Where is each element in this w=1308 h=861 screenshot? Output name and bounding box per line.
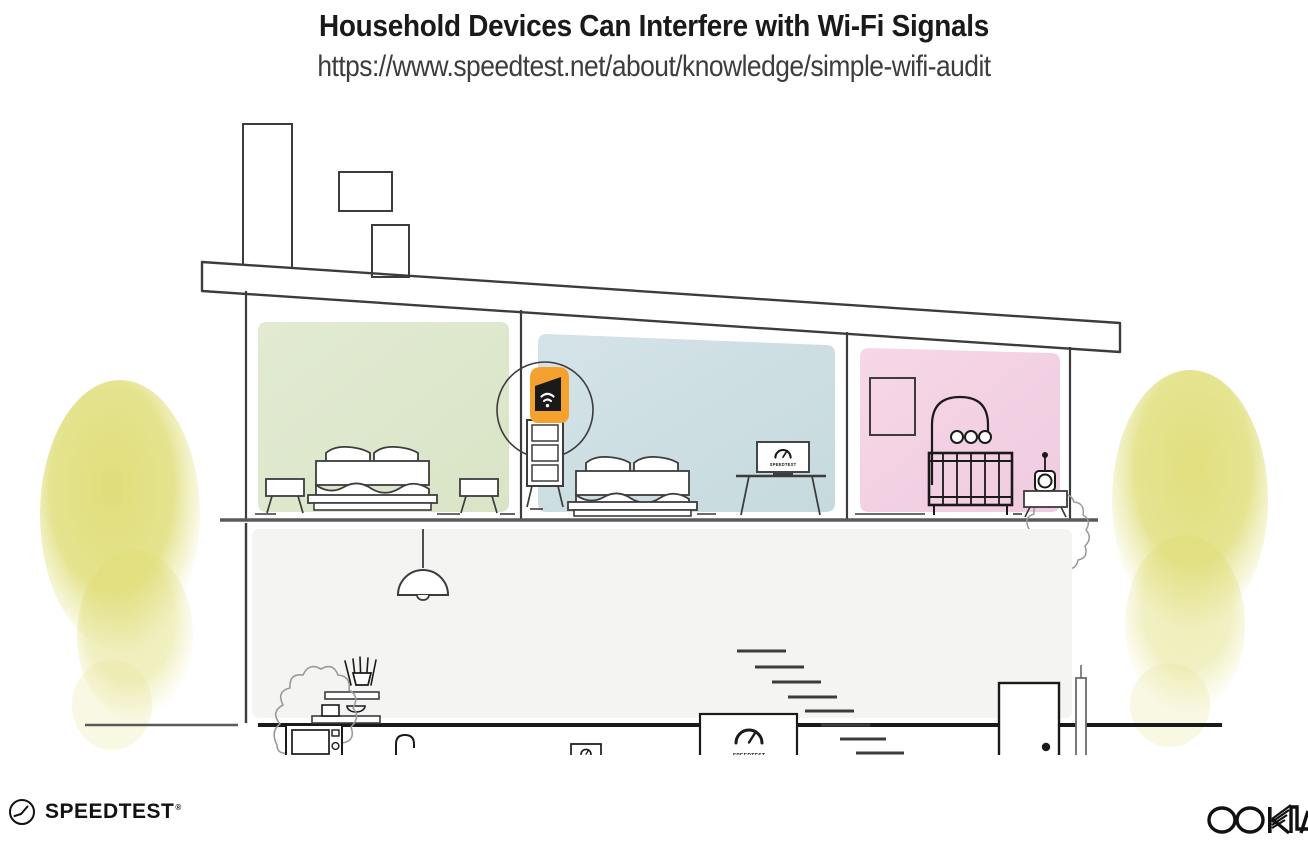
sidelight-window [1076, 665, 1086, 755]
foliage-right [1112, 370, 1268, 747]
laptop[interactable]: SPEEDTEST [563, 744, 609, 755]
foliage-left [40, 380, 200, 750]
monitor[interactable]: SPEEDTEST [757, 442, 809, 476]
trademark-symbol: ® [175, 803, 181, 812]
footer: SPEEDTEST® [0, 780, 1308, 861]
television[interactable]: SPEEDTEST [700, 714, 797, 755]
source-url: https://www.speedtest.net/about/knowledg… [78, 44, 1229, 84]
house-cutaway-illustration: SPEEDTEST [0, 105, 1308, 755]
header: Household Devices Can Interfere with Wi-… [0, 0, 1308, 84]
door-knob-icon [1042, 743, 1050, 751]
speedtest-wordmark: SPEEDTEST® [45, 800, 182, 824]
picture-frame-group [339, 172, 409, 277]
room-bedroom-middle: SPEEDTEST [497, 334, 835, 516]
speedtest-wordmark-text: SPEEDTEST [45, 800, 174, 823]
speedometer-gauge-icon [8, 798, 36, 826]
room-bedroom-left [255, 172, 515, 514]
lower-floor: SPEEDTEST SPEEDTEST [85, 523, 1222, 755]
ookla-logo[interactable] [1205, 800, 1308, 840]
wifi-router[interactable] [530, 367, 569, 423]
monitor-brand-text: SPEEDTEST [770, 462, 797, 467]
tv-brand-text: SPEEDTEST [733, 753, 765, 755]
page-title: Household Devices Can Interfere with Wi-… [65, 0, 1242, 44]
chimney [243, 124, 292, 279]
sink-faucet-icon [396, 735, 414, 755]
speedtest-logo[interactable]: SPEEDTEST® [8, 798, 182, 826]
